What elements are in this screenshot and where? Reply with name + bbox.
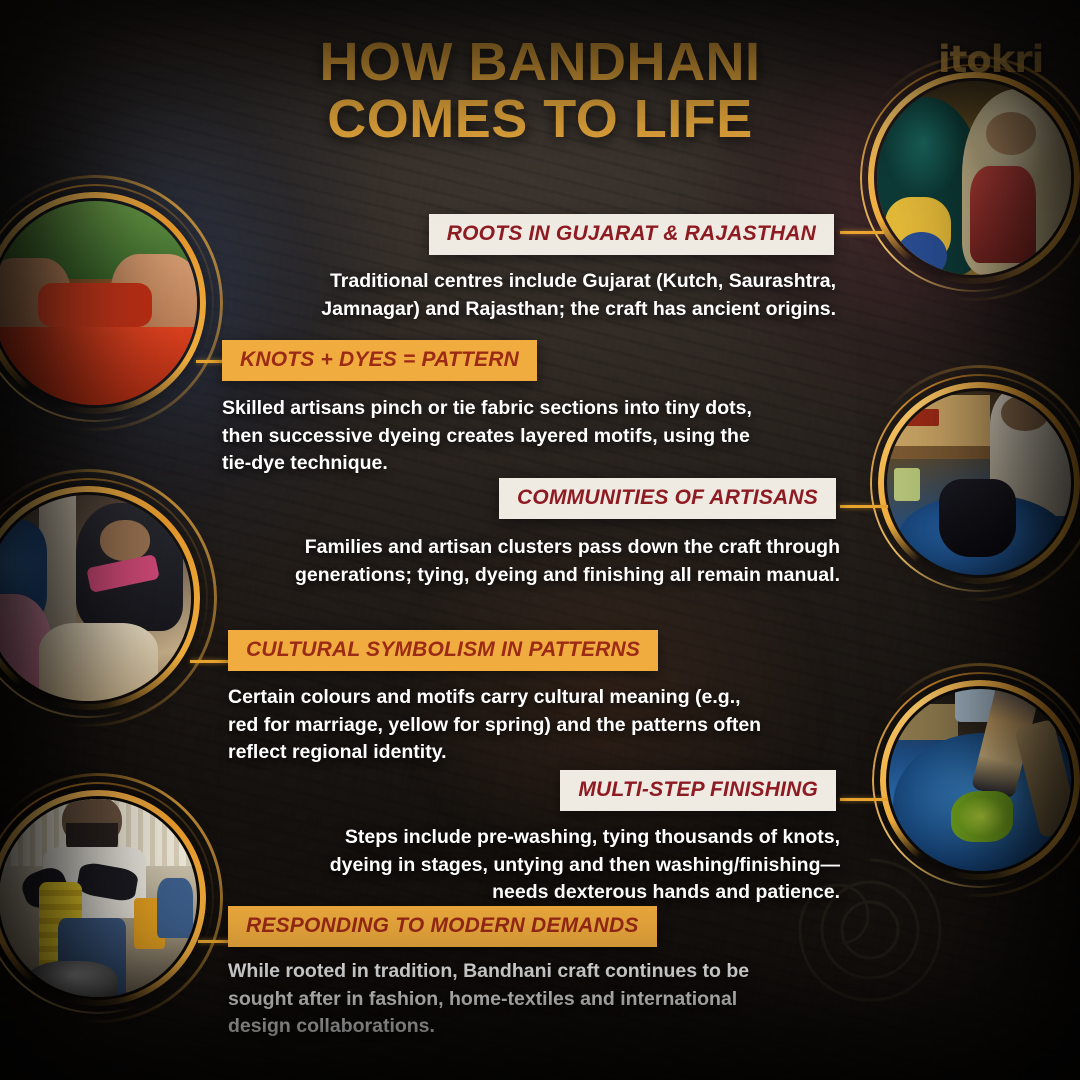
photo-circle-two-women-tying-bandhani <box>868 72 1080 284</box>
section-body-knots-dyes-pattern: Skilled artisans pinch or tie fabric sec… <box>222 395 752 478</box>
photo-circle-dyer-in-blue-tub <box>878 382 1080 584</box>
connector-line-1 <box>840 231 884 234</box>
photo-circle-indigo-dye-vat <box>880 680 1080 880</box>
connector-line-3 <box>840 505 888 508</box>
connector-line-6 <box>198 940 232 943</box>
section-label-communities-of-artisans[interactable]: COMMUNITIES OF ARTISANS <box>499 478 836 519</box>
photo-ring-decor-3c <box>861 365 1080 601</box>
photo-circle-hands-tying-red-fabric <box>0 192 206 414</box>
section-body-responding-to-modern-demands: While rooted in tradition, Bandhani craf… <box>228 958 788 1041</box>
photo-ring-decor-5c <box>863 663 1080 897</box>
section-label-responding-to-modern-demands[interactable]: RESPONDING TO MODERN DEMANDS <box>228 906 657 947</box>
connector-line-5 <box>840 798 888 801</box>
page-title-line-1: HOW BANDHANI <box>320 32 761 92</box>
photo-circle-woman-untying-knots <box>0 486 200 710</box>
section-label-cultural-symbolism-in-patterns[interactable]: CULTURAL SYMBOLISM IN PATTERNS <box>228 630 658 671</box>
connector-line-4 <box>190 660 228 663</box>
photo-circle-dyer-lifting-yellow-cloth <box>0 790 206 1006</box>
photo-ring-decor-1c <box>851 55 1080 301</box>
section-body-multi-step-finishing: Steps include pre-washing, tying thousan… <box>320 824 840 907</box>
section-label-roots-in-gujarat-rajasthan[interactable]: ROOTS IN GUJARAT & RAJASTHAN <box>429 214 834 255</box>
section-label-knots-dyes-pattern[interactable]: KNOTS + DYES = PATTERN <box>222 340 537 381</box>
section-label-multi-step-finishing[interactable]: MULTI-STEP FINISHING <box>560 770 836 811</box>
section-body-cultural-symbolism-in-patterns: Certain colours and motifs carry cultura… <box>228 684 768 767</box>
section-body-roots-in-gujarat-rajasthan: Traditional centres include Gujarat (Kut… <box>266 268 836 323</box>
section-body-communities-of-artisans: Families and artisan clusters pass down … <box>240 534 840 589</box>
infographic-canvas: HOW BANDHANI COMES TO LIFE itokri <box>0 0 1080 1080</box>
